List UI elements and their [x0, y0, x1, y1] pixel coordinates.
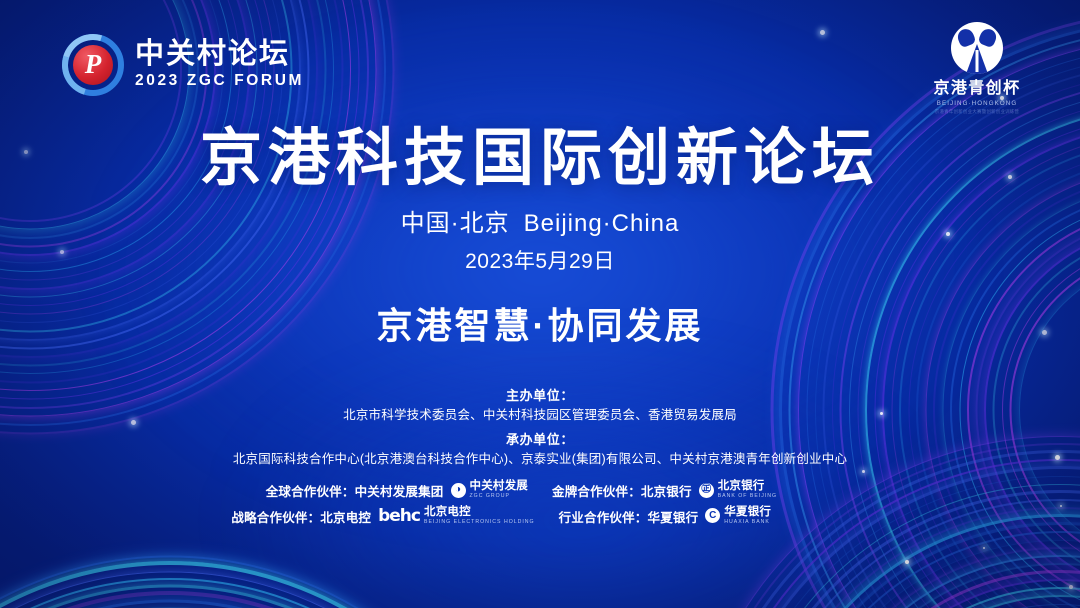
partner-industry-label: 行业合作伙伴：华夏银行: [559, 507, 699, 526]
behc-name-cn: 北京电控: [424, 507, 535, 519]
title-block: 京港科技国际创新论坛 中国·北京Beijing·China 2023年5月29日…: [0, 124, 1080, 349]
page-title: 京港科技国际创新论坛: [0, 124, 1080, 193]
jinggang-cup-subtitle: 京港青年创新创业大赛暨创新创业训练营: [912, 109, 1042, 115]
partners-block: 全球合作伙伴：中关村发展集团 ◑ 中关村发展 ZGC GROUP 金牌合作伙伴：…: [0, 481, 1080, 532]
event-theme: 京港智慧·协同发展: [0, 297, 1080, 349]
partner-global: 全球合作伙伴：中关村发展集团 ◑ 中关村发展 ZGC GROUP: [238, 481, 528, 500]
organizer-value: 北京国际科技合作中心(北京港澳台科技合作中心)、京泰实业(集团)有限公司、中关村…: [0, 450, 1080, 469]
huaxia-bank-logo: C 华夏银行 HUAXIA BANK: [705, 507, 771, 525]
zgc-forum-logo: P 中关村论坛 2023 ZGC FORUM: [62, 34, 304, 96]
organizers-block: 主办单位： 北京市科学技术委员会、中关村科技园区管理委员会、香港贸易发展局 承办…: [0, 386, 1080, 475]
behc-logo: behc 北京电控 BEIJING ELECTRONICS HOLDING: [378, 506, 534, 526]
location-cn: 中国·北京: [401, 210, 510, 237]
bank-of-beijing-logo: ㊣ 北京银行 BANK OF BEIJING: [699, 481, 777, 499]
behc-name-en: BEIJING ELECTRONICS HOLDING: [424, 520, 535, 525]
partner-row: 战略合作伙伴：北京电控 behc 北京电控 BEIJING ELECTRONIC…: [0, 506, 1080, 526]
event-date: 2023年5月29日: [0, 245, 1080, 275]
huaxia-bank-name-cn: 华夏银行: [724, 507, 771, 519]
host-value: 北京市科学技术委员会、中关村科技园区管理委员会、香港贸易发展局: [0, 406, 1080, 425]
bank-of-beijing-name-cn: 北京银行: [718, 481, 777, 493]
location-line: 中国·北京Beijing·China: [0, 209, 1080, 239]
zgc-mark-letter: P: [85, 51, 102, 78]
jinggang-cup-logo: 京港青创杯 BEIJING·HONGKONG 京港青年创新创业大赛暨创新创业训练…: [912, 22, 1042, 115]
partner-gold: 金牌合作伙伴：北京银行 ㊣ 北京银行 BANK OF BEIJING: [552, 481, 842, 500]
zgc-name-cn: 中关村论坛: [135, 39, 304, 70]
zgc-group-name-cn: 中关村发展: [470, 481, 529, 493]
bank-of-beijing-badge-icon: ㊣: [699, 483, 714, 498]
partner-gold-label: 金牌合作伙伴：北京银行: [552, 481, 692, 500]
zgc-name-en: 2023 ZGC FORUM: [135, 72, 304, 91]
host-label: 主办单位：: [0, 386, 1080, 406]
zgc-group-logo: ◑ 中关村发展 ZGC GROUP: [451, 481, 529, 499]
partner-strategic-label: 战略合作伙伴：北京电控: [231, 507, 371, 526]
zgc-group-name-en: ZGC GROUP: [470, 494, 529, 499]
jinggang-cup-name-en: BEIJING·HONGKONG: [912, 100, 1042, 107]
partner-row: 全球合作伙伴：中关村发展集团 ◑ 中关村发展 ZGC GROUP 金牌合作伙伴：…: [0, 481, 1080, 500]
poster-canvas: P 中关村论坛 2023 ZGC FORUM 京港青创杯 BEIJING·HON…: [0, 0, 1080, 608]
partner-strategic: 战略合作伙伴：北京电控 behc 北京电控 BEIJING ELECTRONIC…: [231, 506, 534, 526]
zgc-group-badge-icon: ◑: [451, 483, 466, 498]
bauhinia-tower-icon: [951, 22, 1003, 74]
partner-global-label: 全球合作伙伴：中关村发展集团: [266, 481, 444, 500]
behc-wordmark: behc: [378, 506, 420, 526]
huaxia-bank-name-en: HUAXIA BANK: [724, 520, 771, 525]
zgc-emblem-icon: P: [62, 34, 124, 96]
organizer-label: 承办单位：: [0, 430, 1080, 450]
huaxia-bank-badge-icon: C: [705, 508, 720, 523]
location-en: Beijing·China: [524, 210, 680, 237]
jinggang-cup-name-cn: 京港青创杯: [912, 80, 1042, 98]
partner-industry: 行业合作伙伴：华夏银行 C 华夏银行 HUAXIA BANK: [559, 507, 849, 526]
bank-of-beijing-name-en: BANK OF BEIJING: [718, 494, 777, 499]
